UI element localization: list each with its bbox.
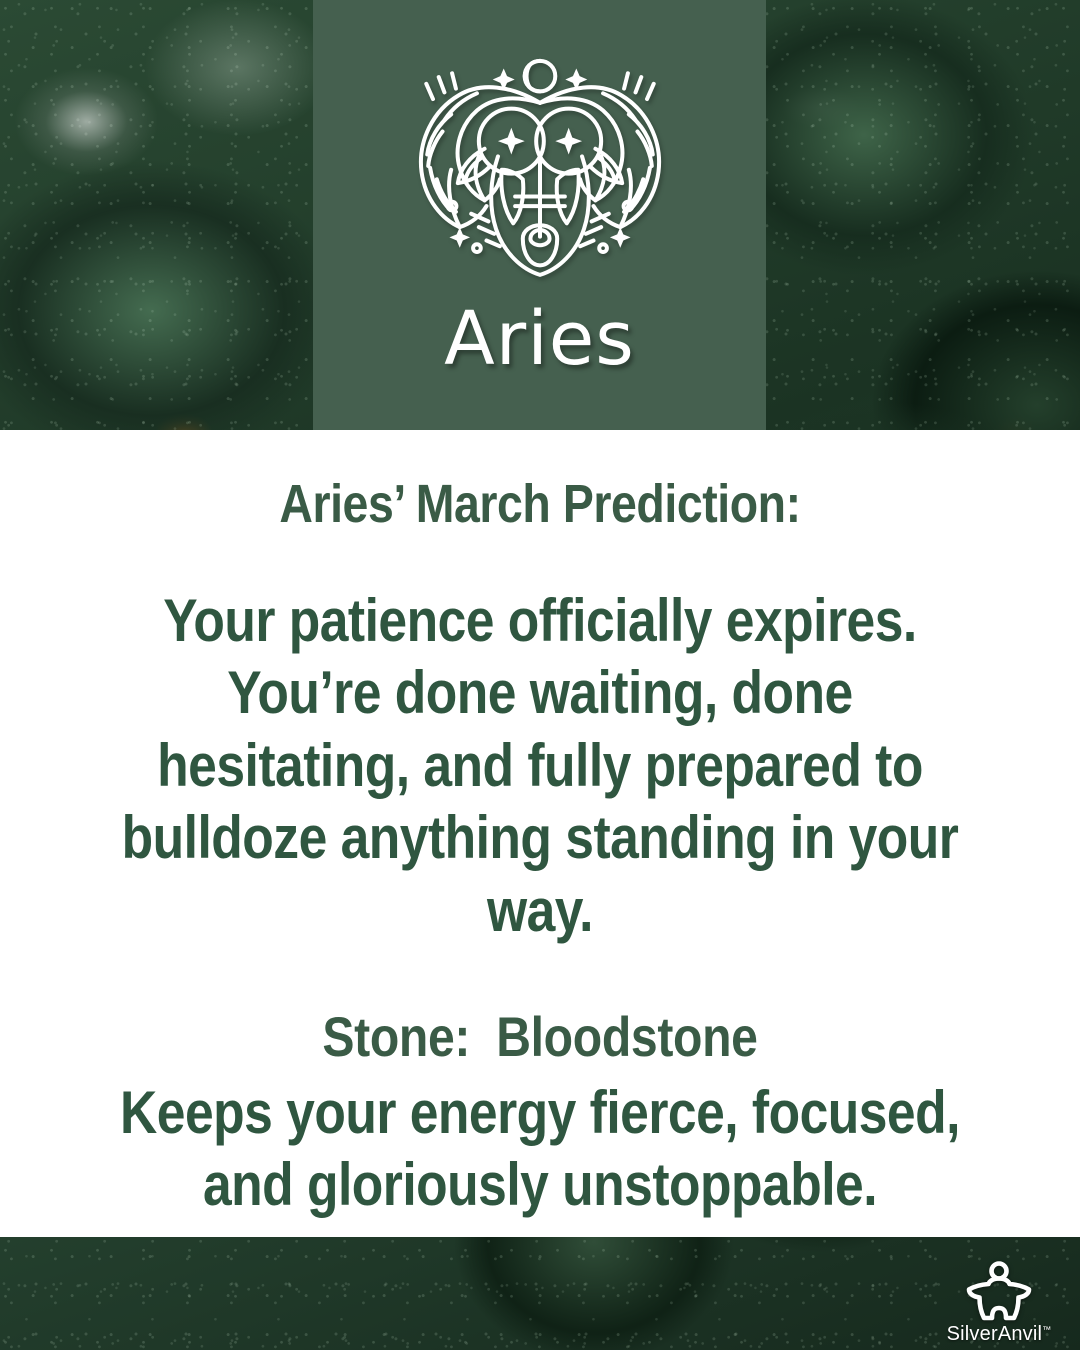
brand-name: SilverAnvil™ — [947, 1323, 1052, 1346]
prediction-content-panel: Aries’ March Prediction: Your patience o… — [0, 430, 1080, 1237]
zodiac-header-panel: Aries — [313, 0, 766, 430]
poster-canvas: Aries Aries’ March Prediction: Your pati… — [0, 0, 1080, 1350]
silveranvil-logo-icon — [962, 1260, 1036, 1322]
brand-name-text: SilverAnvil — [947, 1323, 1043, 1345]
stone-label: Stone: Bloodstone — [112, 948, 969, 1068]
footer-strip: SilverAnvil™ — [0, 1237, 1080, 1350]
zodiac-sign-name: Aries — [444, 302, 635, 376]
aries-ram-zodiac-icon — [395, 36, 685, 294]
brand-lockup: SilverAnvil™ — [940, 1260, 1058, 1346]
trademark-symbol: ™ — [1042, 1324, 1051, 1334]
stone-description: Keeps your energy fierce, focused, and g… — [112, 1067, 969, 1221]
prediction-text: Your patience officially expires. You’re… — [112, 533, 969, 948]
prediction-headline: Aries’ March Prediction: — [112, 430, 969, 533]
